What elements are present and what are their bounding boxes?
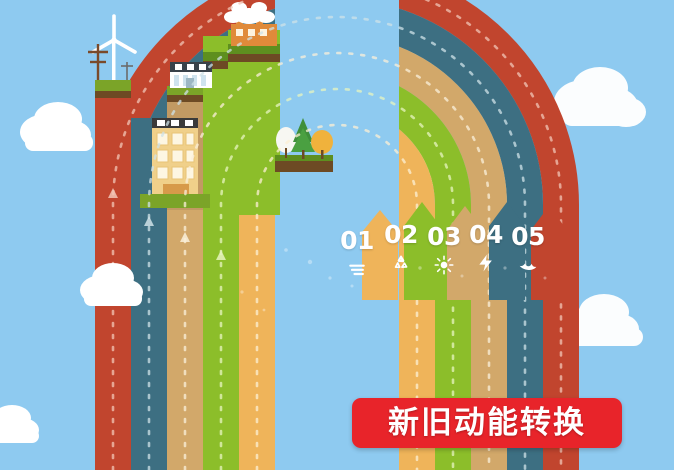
title-banner: 新旧动能转换	[352, 398, 622, 448]
infographic-canvas: 01 02 03	[0, 0, 674, 470]
turbine-platform	[95, 80, 131, 85]
villa-house-icon	[170, 62, 212, 88]
title-banner-text: 新旧动能转换	[388, 408, 586, 439]
factory-column	[228, 30, 280, 215]
column-soil-red	[95, 91, 131, 98]
column-soil-tan	[167, 95, 203, 102]
